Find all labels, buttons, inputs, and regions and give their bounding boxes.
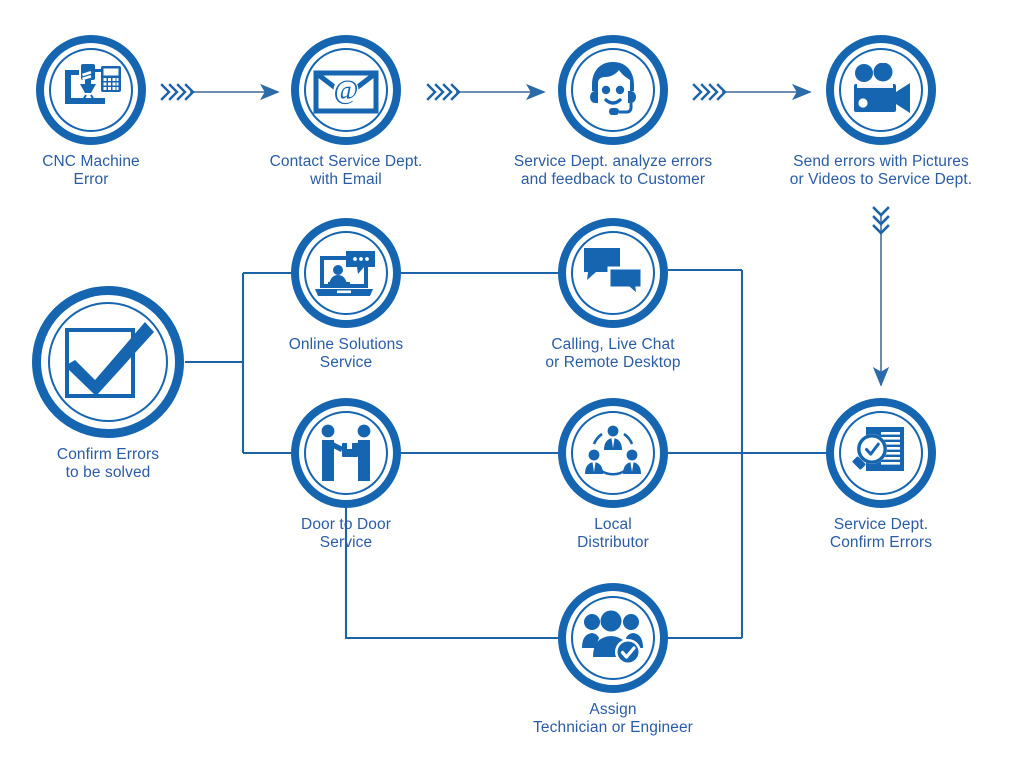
node-ring [291, 218, 401, 328]
node-assign-technician-or-engineer[interactable]: Assign Technician or Engineer [493, 583, 733, 738]
node-ring [558, 398, 668, 508]
node-label: Confirm Errors to be solved [57, 446, 159, 483]
customer-support-agent-icon [581, 58, 645, 122]
node-label: Contact Service Dept. with Email [270, 153, 423, 190]
node-ring: @ [291, 35, 401, 145]
node-service-dept-analyze-errors[interactable]: Service Dept. analyze errors and feedbac… [473, 35, 753, 190]
flowchart-canvas: CNC Machine Error @ Contact Service Dept… [0, 0, 1024, 768]
laptop-chat-icon [313, 244, 379, 302]
node-local-distributor[interactable]: Local Distributor [523, 398, 703, 553]
node-label: Local Distributor [577, 516, 649, 553]
svg-text:@: @ [334, 75, 359, 105]
node-ring [291, 398, 401, 508]
node-door-to-door-service[interactable]: Door to Door Service [256, 398, 436, 553]
node-label: Door to Door Service [301, 516, 391, 553]
magnifier-document-icon [850, 423, 912, 483]
people-network-icon [582, 422, 644, 484]
arrow-send-to-confirm-down [874, 208, 888, 385]
node-ring [558, 35, 668, 145]
node-label: Send errors with Pictures or Videos to S… [790, 153, 972, 190]
node-ring [36, 35, 146, 145]
node-label: Calling, Live Chat or Remote Desktop [545, 336, 680, 373]
node-ring [558, 583, 668, 693]
email-envelope-icon: @ [313, 65, 379, 115]
node-contact-service-dept-with-email[interactable]: @ Contact Service Dept. with Email [236, 35, 456, 190]
node-ring [32, 286, 184, 438]
handover-package-icon [314, 423, 378, 483]
node-label: Service Dept. Confirm Errors [830, 516, 932, 553]
node-confirm-errors-to-be-solved[interactable]: Confirm Errors to be solved [8, 286, 208, 483]
node-send-errors-with-pictures-or-videos[interactable]: Send errors with Pictures or Videos to S… [761, 35, 1001, 190]
cnc-machine-icon [59, 60, 123, 120]
node-cnc-machine-error[interactable]: CNC Machine Error [0, 35, 182, 190]
video-camera-icon [849, 63, 913, 117]
group-check-icon [581, 610, 645, 666]
node-label: Service Dept. analyze errors and feedbac… [514, 153, 712, 190]
speech-bubbles-icon [581, 244, 645, 302]
node-label: Online Solutions Service [289, 336, 403, 373]
node-online-solutions-service[interactable]: Online Solutions Service [256, 218, 436, 373]
node-ring [826, 398, 936, 508]
node-calling-live-chat-or-remote-desktop[interactable]: Calling, Live Chat or Remote Desktop [503, 218, 723, 373]
checkbox-check-icon [59, 316, 157, 408]
node-label: Assign Technician or Engineer [533, 701, 693, 738]
node-service-dept-confirm-errors[interactable]: Service Dept. Confirm Errors [791, 398, 971, 553]
node-ring [558, 218, 668, 328]
node-label: CNC Machine Error [42, 153, 140, 190]
node-ring [826, 35, 936, 145]
